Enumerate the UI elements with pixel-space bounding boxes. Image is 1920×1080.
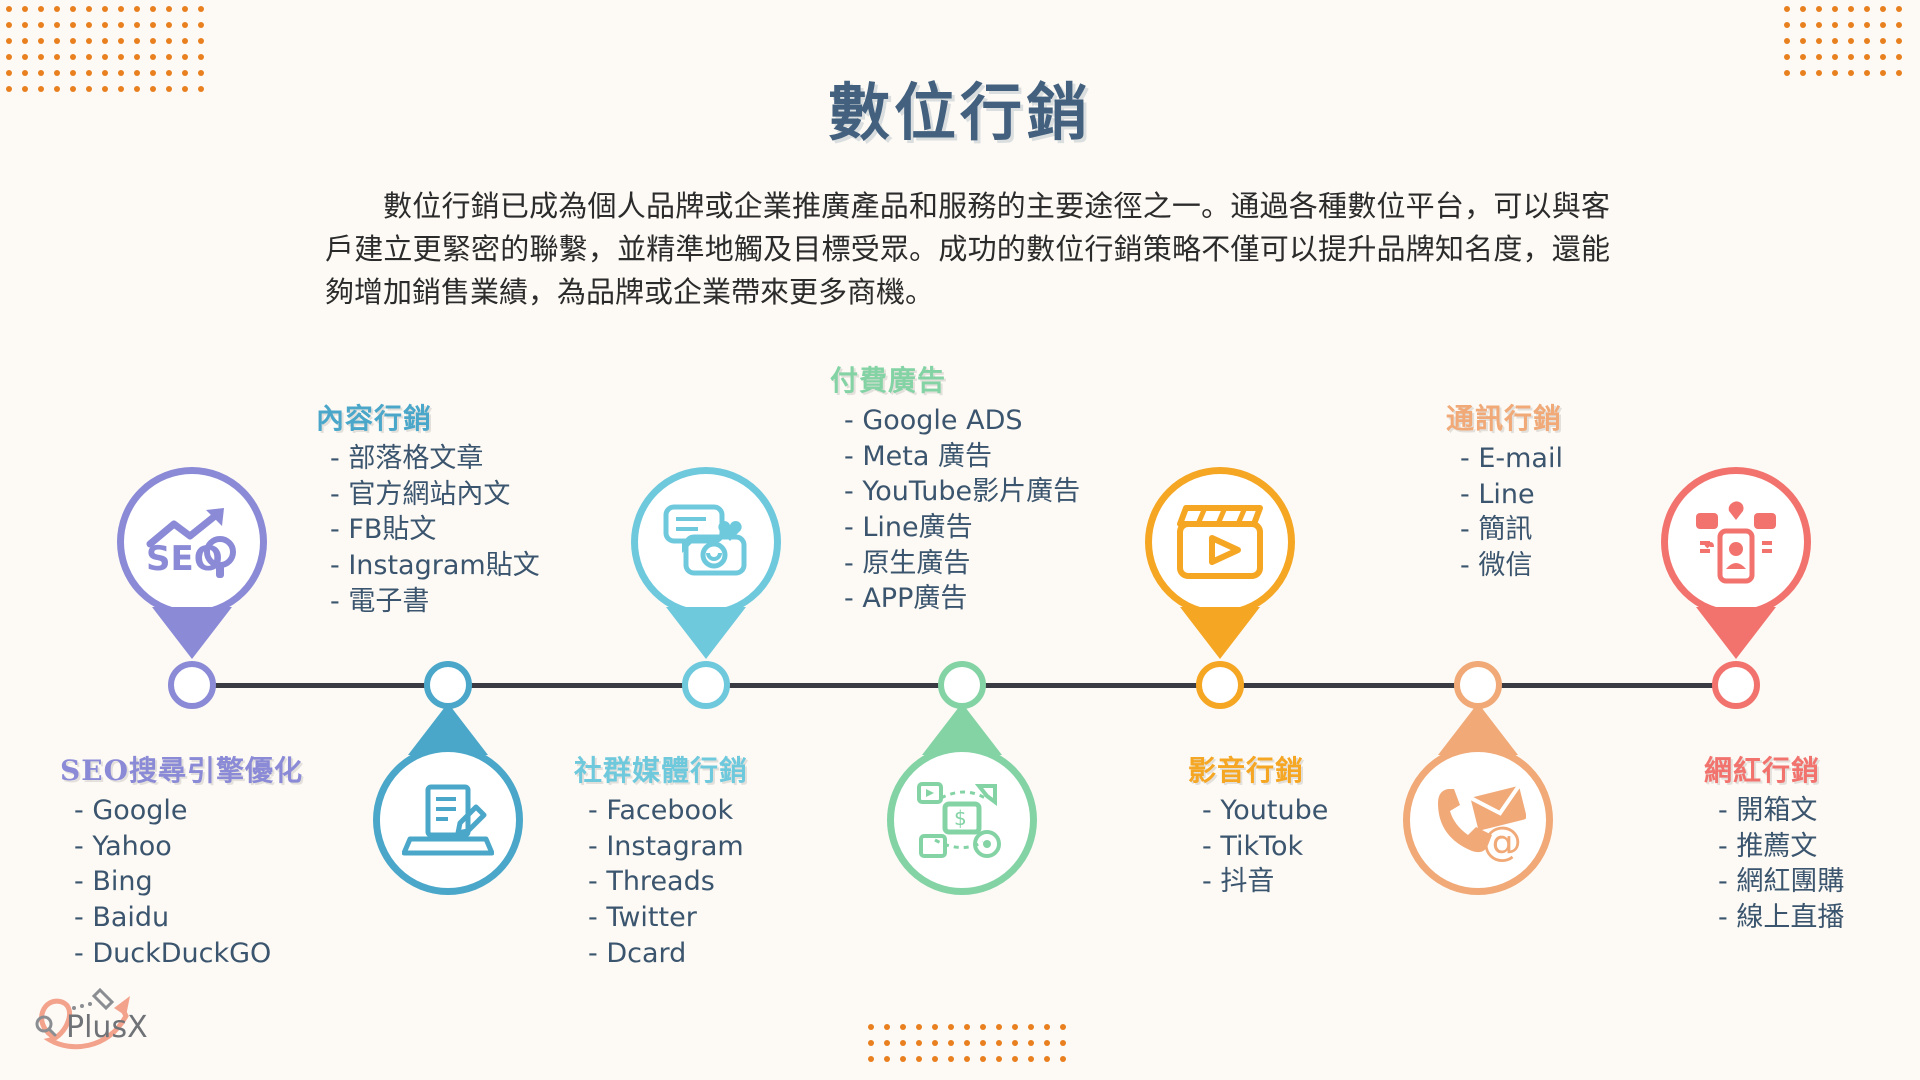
decor-dot [1864,38,1870,44]
decor-dot [182,38,188,44]
list-item: Yahoo [74,829,303,865]
decor-dot [102,6,108,12]
video-clapperboard-play-icon [1145,467,1295,617]
decor-dot [916,1024,922,1030]
decor-dot [1880,54,1886,60]
section-influencer: 網紅行銷開箱文推薦文網紅團購線上直播 [1686,749,1844,936]
pin-influencer[interactable] [1661,467,1811,659]
pin-tail [666,607,746,659]
decor-dot [182,6,188,12]
decor-dot [1896,6,1902,12]
list-item: TikTok [1202,829,1328,865]
decor-dot [1800,22,1806,28]
decor-dot [6,54,12,60]
list-item: Dcard [588,936,748,972]
decor-dot [6,6,12,12]
decor-dot [1848,38,1854,44]
decor-dot [1832,54,1838,60]
decor-dot [980,1024,986,1030]
section-video: 影音行銷YoutubeTikTok抖音 [1170,749,1328,900]
decor-dot [102,54,108,60]
decor-dot [1816,22,1822,28]
list-item: Bing [74,864,303,900]
pin-social[interactable] [631,467,781,659]
timeline-node-video[interactable] [1196,661,1244,709]
pin-tail [1696,607,1776,659]
decor-dot [22,22,28,28]
decor-dot [868,1056,874,1062]
list-item: Instagram [588,829,748,865]
section-list: E-mailLine簡訊微信 [1446,441,1563,584]
pin-video[interactable] [1145,467,1295,659]
pin-messaging[interactable]: @ [1403,703,1553,895]
decor-dot [1864,6,1870,12]
decor-dot [884,1024,890,1030]
ads-megaphone-icon: $ [887,745,1037,895]
decor-dot [948,1040,954,1046]
decor-dot [1784,6,1790,12]
decor-dot [166,6,172,12]
section-heading: 內容行銷 [316,397,540,437]
section-list: GoogleYahooBingBaiduDuckDuckGO [60,793,303,971]
decor-dot [1060,1040,1066,1046]
decor-dot [1832,22,1838,28]
list-item: 抖音 [1202,864,1328,900]
decor-dot [22,6,28,12]
decor-dot [1880,22,1886,28]
timeline-node-social[interactable] [682,661,730,709]
decor-dot [1028,1040,1034,1046]
pin-seo[interactable]: SEO [117,467,267,659]
decor-dot [1848,6,1854,12]
decor-dot [38,38,44,44]
decor-dot [1044,1040,1050,1046]
decor-dot [932,1040,938,1046]
decor-dot [932,1024,938,1030]
list-item: Line [1460,477,1563,513]
decor-dot [150,22,156,28]
decor-dot [150,38,156,44]
decor-dot [900,1056,906,1062]
decor-dot [134,6,140,12]
decor-dot [1012,1056,1018,1062]
decor-dot [996,1040,1002,1046]
decor-dot [1832,38,1838,44]
decor-dot [134,54,140,60]
decor-dot [1816,38,1822,44]
chat-bubbles-icon [631,467,781,617]
decor-dot [916,1056,922,1062]
decor-dot [1044,1024,1050,1030]
section-heading: 影音行銷 [1188,749,1328,789]
logo-text: PlusX [66,1010,148,1045]
decor-dot [182,22,188,28]
list-item: 微信 [1460,548,1563,584]
decor-dot [916,1040,922,1046]
list-item: 官方網站內文 [330,477,540,513]
decor-dot [70,6,76,12]
section-list: 部落格文章官方網站內文FB貼文Instagram貼文電子書 [316,441,540,619]
decor-dot [1832,6,1838,12]
list-item: 開箱文 [1718,793,1844,829]
section-seo: SEO搜尋引擎優化GoogleYahooBingBaiduDuckDuckGO [42,749,303,971]
decor-dot [996,1024,1002,1030]
section-paid-ads: 付費廣告Google ADSMeta 廣告YouTube影片廣告Line廣告原生… [812,359,1080,617]
decor-dot [70,22,76,28]
decor-dot [70,54,76,60]
pin-paid-ads[interactable]: $ [887,703,1037,895]
list-item: FB貼文 [330,512,540,548]
decor-dot [1880,38,1886,44]
decor-dot [980,1040,986,1046]
decor-dot [1012,1040,1018,1046]
list-item: 簡訊 [1460,512,1563,548]
pin-tail [152,607,232,659]
list-item: 原生廣告 [844,546,1080,582]
decor-dot [884,1056,890,1062]
svg-text:$: $ [954,806,967,830]
list-item: 線上直播 [1718,900,1844,936]
decor-dot [182,54,188,60]
decor-dot [932,1056,938,1062]
list-item: Threads [588,864,748,900]
decor-dot [38,22,44,28]
list-item: Google ADS [844,403,1080,439]
timeline-node-content[interactable] [424,661,472,709]
decor-dot [884,1040,890,1046]
decor-dot [964,1056,970,1062]
decor-dot [1060,1056,1066,1062]
list-item: 部落格文章 [330,441,540,477]
decor-dot [6,38,12,44]
smartphone-hearts-icon [1661,467,1811,617]
pin-tail [1180,607,1260,659]
decor-dot [134,38,140,44]
decor-dot [86,22,92,28]
decor-dot [1800,6,1806,12]
list-item: Facebook [588,793,748,829]
decor-dot [900,1024,906,1030]
decor-dot [166,54,172,60]
section-list: Google ADSMeta 廣告YouTube影片廣告Line廣告原生廣告AP… [830,403,1080,617]
laptop-writing-icon [373,745,523,895]
decor-dot [166,22,172,28]
decor-dot [54,38,60,44]
intro-paragraph: 數位行銷已成為個人品牌或企業推廣產品和服務的主要途徑之一。通過各種數位平台，可以… [325,185,1610,314]
list-item: Instagram貼文 [330,548,540,584]
section-social: 社群媒體行銷FacebookInstagramThreadsTwitterDca… [556,749,748,971]
decor-dot [1896,38,1902,44]
list-item: Line廣告 [844,510,1080,546]
list-item: Youtube [1202,793,1328,829]
decor-dot [70,38,76,44]
decor-dot [166,38,172,44]
decor-dot [1848,22,1854,28]
decor-dot [150,54,156,60]
decor-dot [118,6,124,12]
decor-dot [1800,38,1806,44]
list-item: 電子書 [330,584,540,620]
section-heading: 網紅行銷 [1704,749,1844,789]
decor-dot [1864,54,1870,60]
decor-dot [38,6,44,12]
decor-dot [1012,1024,1018,1030]
decor-dot [54,22,60,28]
decor-dot [1816,6,1822,12]
timeline-node-influencer[interactable] [1712,661,1760,709]
decor-dot [86,6,92,12]
plusx-logo: PlusX [22,980,162,1058]
decor-dot [22,54,28,60]
decor-dot [1028,1024,1034,1030]
decor-dot [102,22,108,28]
decor-dot [1864,22,1870,28]
list-item: YouTube影片廣告 [844,474,1080,510]
decor-dot [1044,1056,1050,1062]
timeline-node-messaging[interactable] [1454,661,1502,709]
section-heading: 通訊行銷 [1446,397,1563,437]
decor-dot [1784,22,1790,28]
decor-dot [1800,54,1806,60]
decor-dot [198,22,204,28]
list-item: 推薦文 [1718,829,1844,865]
list-item: E-mail [1460,441,1563,477]
decor-dot [996,1056,1002,1062]
section-list: FacebookInstagramThreadsTwitterDcard [574,793,748,971]
list-item: Twitter [588,900,748,936]
decor-dot [54,54,60,60]
section-heading: 社群媒體行銷 [574,749,748,789]
section-list: YoutubeTikTok抖音 [1188,793,1328,900]
decor-dot [980,1056,986,1062]
list-item: Baidu [74,900,303,936]
decor-dot [38,54,44,60]
decor-dot [1784,38,1790,44]
decor-dot [54,6,60,12]
timeline-node-paid-ads[interactable] [938,661,986,709]
list-item: 網紅團購 [1718,864,1844,900]
decor-dot [118,22,124,28]
decor-dot [1816,54,1822,60]
page-title: 數位行銷 [0,62,1920,152]
section-content: 內容行銷部落格文章官方網站內文FB貼文Instagram貼文電子書 [298,397,540,619]
section-heading: 付費廣告 [830,359,1080,399]
decor-dot [86,54,92,60]
section-heading: SEO搜尋引擎優化 [60,749,303,789]
pin-content[interactable] [373,703,523,895]
decor-dot [198,6,204,12]
decor-dot [964,1040,970,1046]
decor-dot [948,1056,954,1062]
decor-dot [198,54,204,60]
decor-dot [1028,1056,1034,1062]
decor-dot [118,38,124,44]
list-item: Google [74,793,303,829]
timeline-node-seo[interactable] [168,661,216,709]
list-item: APP廣告 [844,581,1080,617]
section-messaging: 通訊行銷E-mailLine簡訊微信 [1428,397,1563,584]
phone-envelope-at-icon: @ [1403,745,1553,895]
decor-dot [1880,6,1886,12]
decor-dot [1896,54,1902,60]
decor-dot [1896,22,1902,28]
seo-growth-chart-icon: SEO [117,467,267,617]
list-item: DuckDuckGO [74,936,303,972]
decor-dot [102,38,108,44]
svg-text:@: @ [1482,819,1522,863]
decor-dot [150,6,156,12]
decor-dot [868,1040,874,1046]
list-item: Meta 廣告 [844,439,1080,475]
decor-dot [198,38,204,44]
decor-dot [1060,1024,1066,1030]
decor-dot [134,22,140,28]
decor-dot [6,22,12,28]
decor-dot [118,54,124,60]
section-list: 開箱文推薦文網紅團購線上直播 [1704,793,1844,936]
decor-dot [1784,54,1790,60]
decor-dot [900,1040,906,1046]
decor-dot [948,1024,954,1030]
decor-dot [22,38,28,44]
decor-dot [964,1024,970,1030]
decor-dots-bottom-center [868,1024,1076,1072]
decor-dot [86,38,92,44]
decor-dot [868,1024,874,1030]
decor-dot [1848,54,1854,60]
